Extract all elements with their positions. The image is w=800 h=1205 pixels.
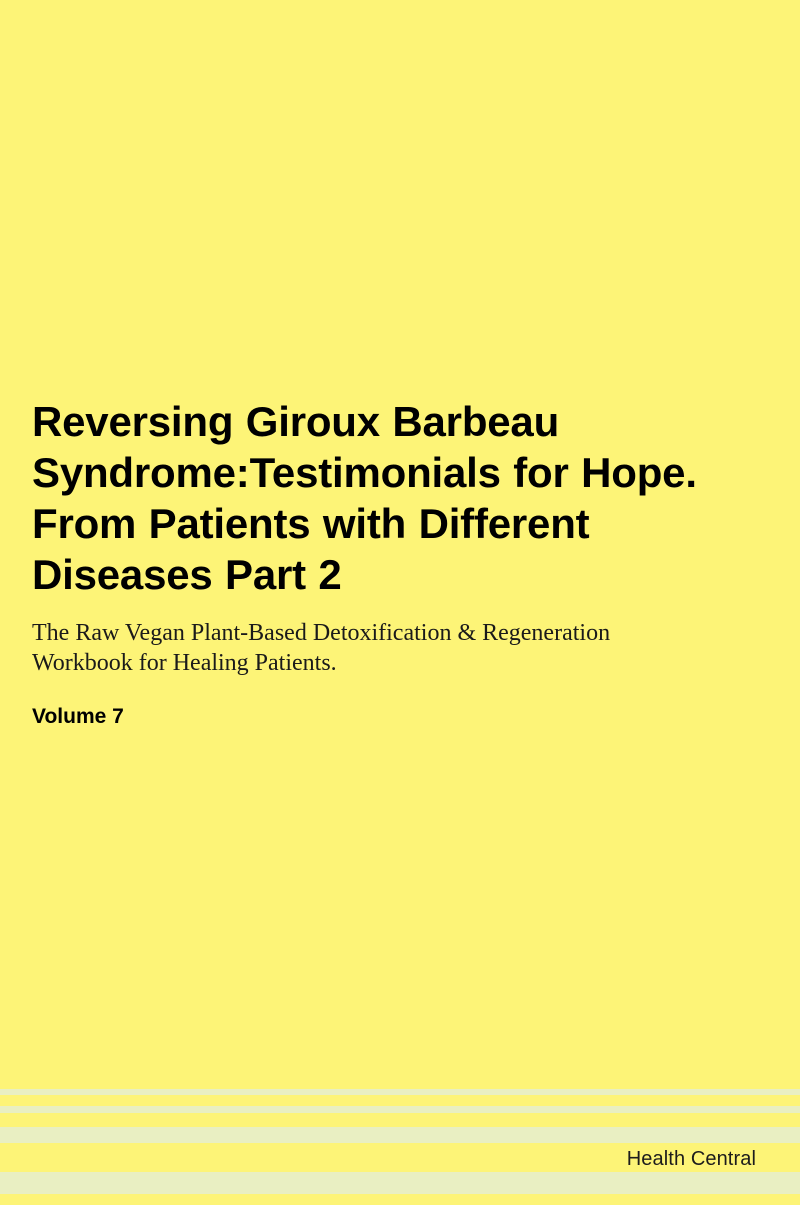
title-line-4: Diseases Part 2 [32, 551, 342, 598]
publisher-name: Health Central [627, 1147, 756, 1171]
subtitle-line-1: The Raw Vegan Plant-Based Detoxification… [32, 620, 610, 646]
title-line-1: Reversing Giroux Barbeau [32, 398, 559, 445]
cover-text-block: Reversing Giroux Barbeau Syndrome:Testim… [32, 396, 762, 730]
title-line-3: From Patients with Different [32, 500, 589, 547]
page-title: Reversing Giroux Barbeau Syndrome:Testim… [32, 396, 762, 600]
stripe-2 [0, 1106, 800, 1113]
title-line-2: Syndrome:Testimonials for Hope. [32, 449, 697, 496]
book-cover: Reversing Giroux Barbeau Syndrome:Testim… [0, 0, 800, 1205]
stripe-3 [0, 1127, 800, 1143]
book-subtitle: The Raw Vegan Plant-Based Detoxification… [32, 618, 722, 678]
stripe-4 [0, 1172, 800, 1194]
stripe-1 [0, 1089, 800, 1095]
subtitle-line-2: Workbook for Healing Patients. [32, 650, 337, 676]
footer-stripe-band [0, 1065, 800, 1205]
volume-label: Volume 7 [32, 704, 762, 730]
